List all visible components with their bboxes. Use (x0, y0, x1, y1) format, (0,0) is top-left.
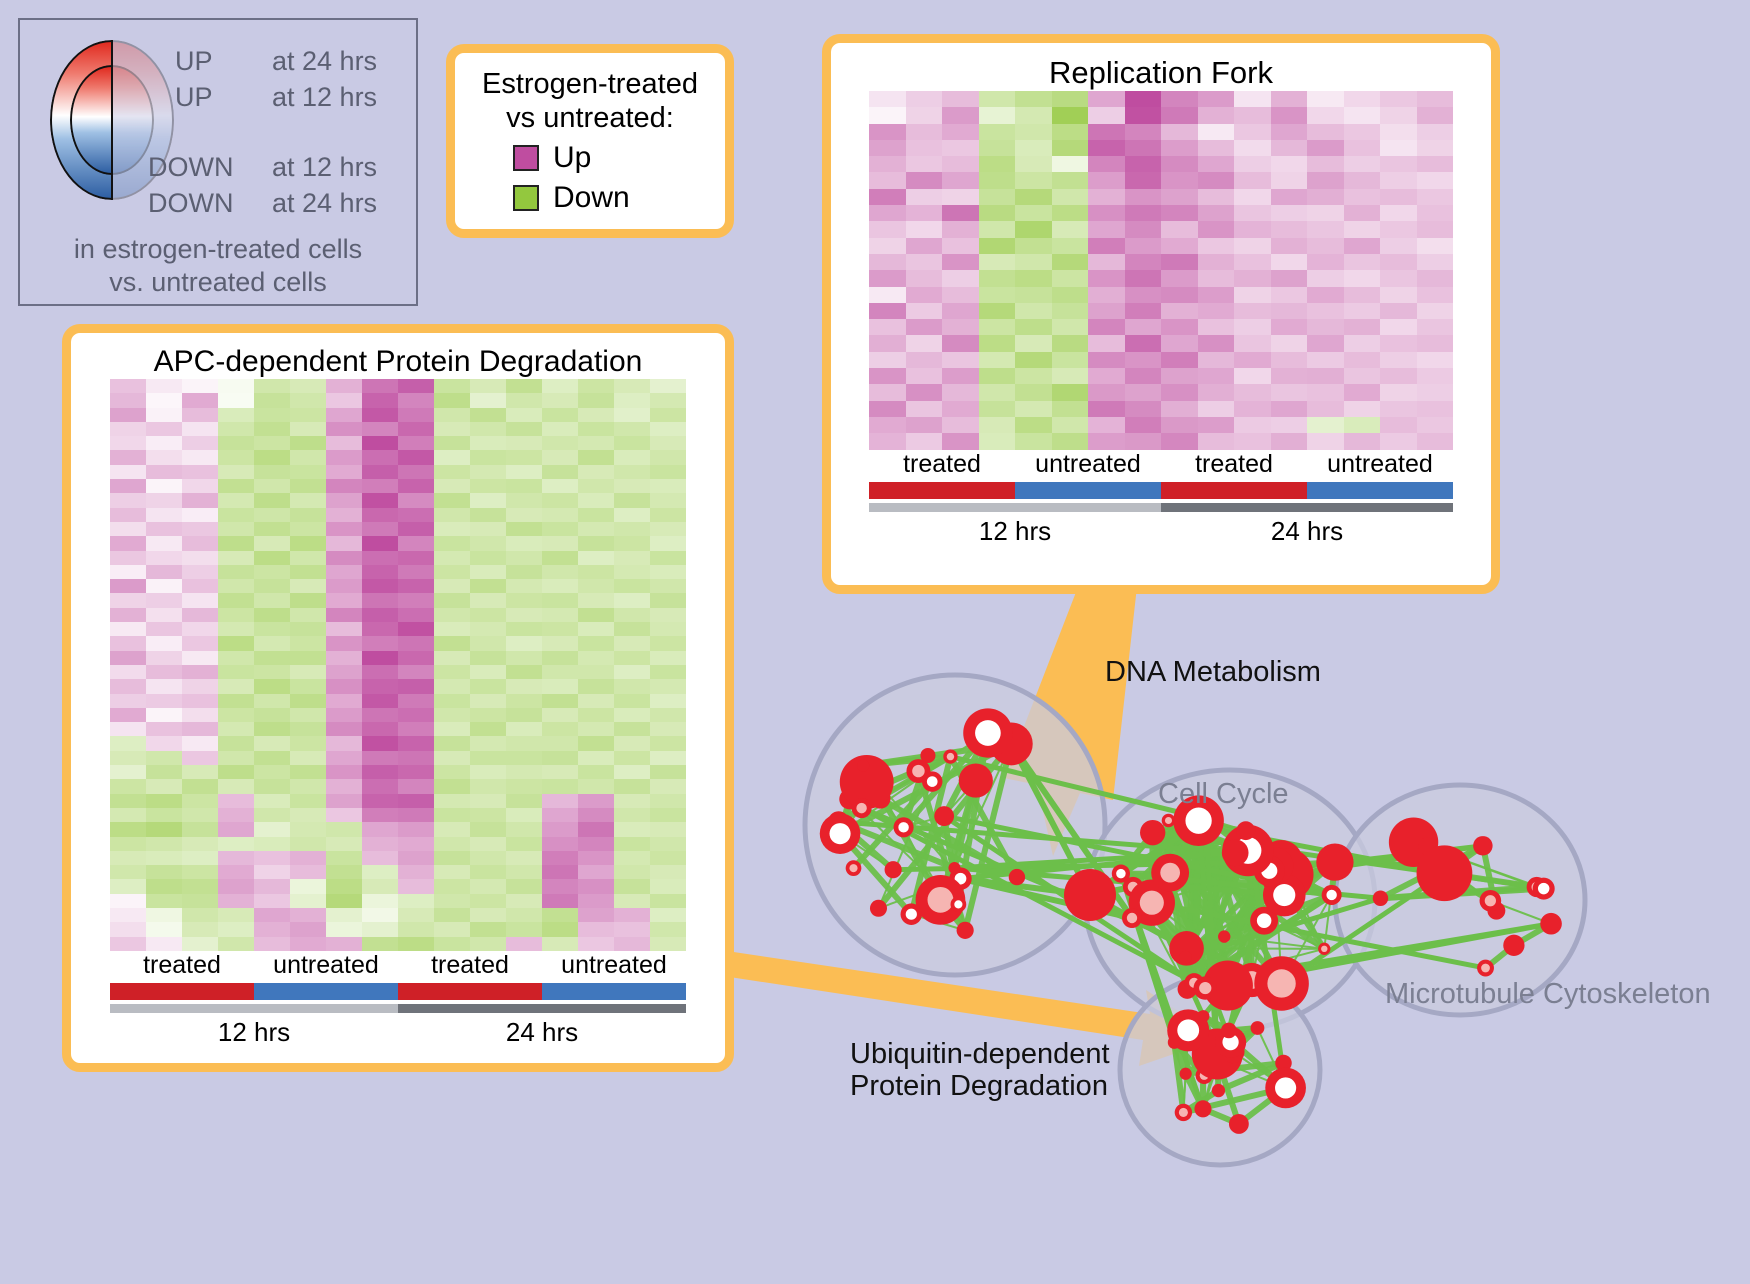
heatmap-cell (1125, 189, 1162, 205)
heatmap-cell (146, 551, 182, 565)
heatmap-cell (290, 408, 326, 422)
heatmap-cell (290, 808, 326, 822)
heatmap-cell (979, 433, 1016, 449)
heatmap-cell (1088, 352, 1125, 368)
heatmap-cell (290, 822, 326, 836)
heatmap-cell (506, 522, 542, 536)
heatmap-cell (290, 436, 326, 450)
heatmap-cell (942, 124, 979, 140)
heatmap-cell (578, 894, 614, 908)
timebar-12hrs (110, 1004, 398, 1013)
heatmap-cell (506, 794, 542, 808)
network-node[interactable] (1194, 1100, 1211, 1117)
heatmap-cell (614, 593, 650, 607)
heatmap-cell (398, 393, 434, 407)
heatmap-cell (182, 436, 218, 450)
network-node[interactable] (1212, 1084, 1225, 1097)
heatmap-cell (434, 837, 470, 851)
heatmap-cell (110, 565, 146, 579)
heatmap-cell (182, 865, 218, 879)
heatmap-cell (434, 379, 470, 393)
heatmap-cell (182, 450, 218, 464)
heatmap-cell (542, 536, 578, 550)
heatmap-cell (1234, 417, 1271, 433)
heatmap-cell (506, 865, 542, 879)
heatmap-cell (1344, 156, 1381, 172)
heatmap-cell (254, 751, 290, 765)
heatmap-cell (1198, 221, 1235, 237)
heatmap-cell (1417, 303, 1454, 319)
heatmap-cell (470, 436, 506, 450)
heatmap-cell (1015, 303, 1052, 319)
heatmap-cell (254, 679, 290, 693)
heatmap-cell (254, 922, 290, 936)
heatmap-cell (1417, 189, 1454, 205)
heatmap-cell (290, 779, 326, 793)
heatmap-cell (614, 822, 650, 836)
heatmap-cell (146, 865, 182, 879)
heatmap-cell (869, 254, 906, 270)
heatmap-cell (1125, 254, 1162, 270)
heatmap-cell (1380, 384, 1417, 400)
heatmap-cell (542, 794, 578, 808)
heatmap-cell (290, 551, 326, 565)
heatmap-cell (869, 156, 906, 172)
time-label-24: 24 hrs (1161, 516, 1453, 547)
heatmap-cell (182, 894, 218, 908)
heatmap-cell (1307, 384, 1344, 400)
heatmap-cell (1198, 433, 1235, 449)
heatmap-cell (942, 319, 979, 335)
network-node[interactable] (934, 806, 954, 826)
heatmap-cell (1198, 124, 1235, 140)
heatmap-cell (506, 751, 542, 765)
heatmap-cell (1234, 270, 1271, 286)
heatmap-cell (290, 937, 326, 951)
heatmap-cell (578, 508, 614, 522)
heatmap-cell (1052, 352, 1089, 368)
network-node[interactable] (1179, 951, 1192, 964)
scale-label-up-12: UP (175, 82, 213, 112)
heatmap-cell (290, 622, 326, 636)
heatmap-cell (578, 479, 614, 493)
heatmap-cell (398, 922, 434, 936)
heatmap-cell (398, 808, 434, 822)
heatmap-cell (1271, 352, 1308, 368)
heatmap-cell (326, 522, 362, 536)
heatmap-cell (290, 393, 326, 407)
heatmap-cell (1271, 303, 1308, 319)
network-node[interactable] (1503, 935, 1524, 956)
heatmap-cell (326, 808, 362, 822)
network-node[interactable] (1251, 1021, 1265, 1035)
heatmap-cell (326, 837, 362, 851)
heatmap-cell (578, 851, 614, 865)
heatmap-cell (362, 679, 398, 693)
heatmap-cell (869, 287, 906, 303)
heatmap-cell (182, 736, 218, 750)
heatmap-cell (869, 417, 906, 433)
heatmap-cell (906, 156, 943, 172)
cond-3: untreated (1307, 450, 1453, 479)
heatmap-cell (254, 665, 290, 679)
heatmap-cell (398, 879, 434, 893)
heatmap-cell (542, 694, 578, 708)
heatmap-cell (1015, 384, 1052, 400)
heatmap-cell (470, 522, 506, 536)
heatmap-cell (942, 205, 979, 221)
heatmap-cell (1380, 238, 1417, 254)
heatmap-cell (254, 894, 290, 908)
heatmap-cell (614, 665, 650, 679)
heatmap-cell (254, 422, 290, 436)
heatmap-cell (470, 393, 506, 407)
heatmap-cell (254, 694, 290, 708)
heatmap-cell (1088, 270, 1125, 286)
heatmap-cell (470, 665, 506, 679)
heatmap-cell (218, 408, 254, 422)
heatmap-cell (1125, 205, 1162, 221)
heatmap-cell (869, 433, 906, 449)
network-node[interactable] (1373, 891, 1388, 906)
network-node-core (1165, 817, 1172, 824)
heatmap-cell (979, 319, 1016, 335)
heatmap-cell (218, 736, 254, 750)
heatmap-cell (542, 722, 578, 736)
heatmap-cell (506, 465, 542, 479)
heatmap-cell (1161, 287, 1198, 303)
heatmap-cell (146, 593, 182, 607)
heatmap-cell (362, 808, 398, 822)
heatmap-cell (1198, 401, 1235, 417)
scale-note-line2: vs. untreated cells (20, 266, 416, 299)
heatmap-cell (1015, 352, 1052, 368)
heatmap-cell (326, 465, 362, 479)
heatmap-cell (182, 536, 218, 550)
heatmap-cell (1417, 221, 1454, 237)
network-node[interactable] (1180, 1068, 1192, 1080)
heatmap-cell (110, 879, 146, 893)
heatmap-cell (182, 808, 218, 822)
network-node[interactable] (1417, 845, 1473, 901)
heatmap-cell (218, 751, 254, 765)
heatmap-cell (614, 622, 650, 636)
heatmap-cell (146, 879, 182, 893)
heatmap-cell (1271, 189, 1308, 205)
heatmap-cell (362, 551, 398, 565)
heatmap-cell (542, 579, 578, 593)
heatmap-cell (1198, 335, 1235, 351)
heatmap-cell (434, 922, 470, 936)
heatmap-cell (218, 465, 254, 479)
heatmap-cell (1161, 238, 1198, 254)
heatmap-cell (470, 622, 506, 636)
heatmap-cell (614, 922, 650, 936)
heatmap-cell (434, 722, 470, 736)
network-node[interactable] (885, 861, 902, 878)
heatmap-cell (979, 238, 1016, 254)
heatmap-cell (578, 622, 614, 636)
heatmap-cell (326, 937, 362, 951)
network-node-core (1185, 808, 1211, 834)
heatmap-cell (1015, 221, 1052, 237)
heatmap-cell (290, 508, 326, 522)
cond-1: untreated (1015, 450, 1161, 479)
heatmap-cell (398, 665, 434, 679)
network-node[interactable] (870, 900, 887, 917)
heatmap-cell (542, 522, 578, 536)
heatmap-cell (218, 937, 254, 951)
network-node-core (975, 720, 1001, 746)
heatmap-cell (146, 851, 182, 865)
heatmap-cell (110, 393, 146, 407)
network-node-core (849, 864, 857, 872)
heatmap-cell (1088, 368, 1125, 384)
heatmap-cell (434, 894, 470, 908)
network-node-core (954, 900, 962, 908)
heatmap-cell (506, 708, 542, 722)
heatmap-cell (110, 894, 146, 908)
heatmap-cell (470, 822, 506, 836)
heatmap-cell (506, 922, 542, 936)
heatmap-cell (110, 579, 146, 593)
heatmap-cell (254, 879, 290, 893)
heatmap-cell (650, 865, 686, 879)
heatmap-cell (614, 722, 650, 736)
network-node[interactable] (920, 748, 935, 763)
heatmap-cell (470, 379, 506, 393)
heatmap-cell (1161, 107, 1198, 123)
heatmap-cell (326, 679, 362, 693)
heatmap-cell (578, 436, 614, 450)
network-node[interactable] (1221, 1023, 1237, 1039)
network-node[interactable] (1316, 843, 1353, 880)
heatmap-cell (542, 422, 578, 436)
network-node[interactable] (1540, 913, 1562, 935)
heatmap-cell (182, 379, 218, 393)
heatmap-cell (218, 837, 254, 851)
heatmap-cell (906, 335, 943, 351)
heatmap-cell (1015, 140, 1052, 156)
heatmap-cell (290, 722, 326, 736)
heatmap-cell (614, 551, 650, 565)
heatmap-cell (614, 408, 650, 422)
heatmap-cell (1271, 417, 1308, 433)
heatmap-cell (434, 579, 470, 593)
heatmap-cell (218, 593, 254, 607)
heatmap-cell (146, 522, 182, 536)
network-node[interactable] (1140, 820, 1165, 845)
heatmap-cell (1088, 140, 1125, 156)
heatmap-cell (1052, 319, 1089, 335)
heatmap-cell (1088, 156, 1125, 172)
heatmap-cell (182, 694, 218, 708)
heatmap-cell (506, 679, 542, 693)
heatmap-cell (578, 636, 614, 650)
heatmap-cell (470, 508, 506, 522)
network-node-core (829, 823, 850, 844)
network-node[interactable] (857, 759, 869, 771)
heatmap-cell (1198, 172, 1235, 188)
heatmap-cell (218, 708, 254, 722)
heatmap-cell (506, 408, 542, 422)
heatmap-cell (398, 722, 434, 736)
heatmap-cell (1344, 303, 1381, 319)
heatmap-cell (470, 894, 506, 908)
heatmap-cell (1198, 384, 1235, 400)
heatmap-cell (254, 593, 290, 607)
heatmap-cell (146, 536, 182, 550)
heatmap-cell (290, 708, 326, 722)
heatmap-cell (218, 922, 254, 936)
heatmap-cell (218, 450, 254, 464)
heatmap-cell (578, 808, 614, 822)
scale-time-down-24: at 24 hrs (272, 188, 377, 218)
heatmap-cell (1417, 319, 1454, 335)
heatmap-cell (1015, 189, 1052, 205)
heatmap-cell (362, 408, 398, 422)
heatmap-cell (218, 379, 254, 393)
heatmap-cell (110, 937, 146, 951)
heatmap-cell (614, 765, 650, 779)
scale-label-up-24: UP (175, 46, 213, 76)
heatmap-cell (470, 465, 506, 479)
heatmap-cell (869, 140, 906, 156)
heatmap-cell (218, 536, 254, 550)
heatmap-cell (869, 335, 906, 351)
bar-untreated-12 (254, 983, 398, 1000)
heatmap-cell (146, 450, 182, 464)
heatmap-cell (1307, 319, 1344, 335)
heatmap-cell (506, 450, 542, 464)
heatmap-cell (434, 765, 470, 779)
heatmap-cell (218, 765, 254, 779)
heatmap-cell (542, 779, 578, 793)
heatmap-cell (1052, 238, 1089, 254)
heatmap-cell (398, 622, 434, 636)
network-node-core (1273, 884, 1295, 906)
network-node[interactable] (1222, 839, 1249, 866)
heatmap-cell (434, 651, 470, 665)
heatmap-cell (1015, 433, 1052, 449)
heatmap-cell (326, 879, 362, 893)
bar-untreated-24 (1307, 482, 1453, 499)
heatmap-cell (218, 679, 254, 693)
heatmap-cell (362, 565, 398, 579)
heatmap-cell (362, 865, 398, 879)
heatmap-cell (362, 536, 398, 550)
network-node[interactable] (1236, 821, 1255, 840)
heatmap-cell (146, 579, 182, 593)
network-node[interactable] (948, 862, 960, 874)
heatmap-cell (614, 736, 650, 750)
time-label-12: 12 hrs (869, 516, 1161, 547)
heatmap-cell (434, 593, 470, 607)
heatmap-cell (1015, 156, 1052, 172)
heatmap-cell (1380, 287, 1417, 303)
heatmap-cell (650, 937, 686, 951)
heatmap-cell (218, 422, 254, 436)
heatmap-cell (1271, 140, 1308, 156)
network-node[interactable] (1229, 1114, 1249, 1134)
network-node-core (947, 753, 954, 760)
heatmap-cell (1161, 205, 1198, 221)
heatmap-cell (1307, 221, 1344, 237)
heatmap-cell (1052, 303, 1089, 319)
heatmap-cell (434, 636, 470, 650)
heatmap-cell (290, 694, 326, 708)
heatmap-cell (326, 608, 362, 622)
heatmap-cell (110, 593, 146, 607)
heatmap-cell (362, 779, 398, 793)
heatmap-cell (1417, 172, 1454, 188)
heatmap-cell (542, 436, 578, 450)
heatmap-cell (614, 636, 650, 650)
network-node[interactable] (1064, 869, 1116, 921)
heatmap-cell (979, 189, 1016, 205)
heatmap-cell (542, 593, 578, 607)
heatmap-cell (1380, 368, 1417, 384)
network-node[interactable] (957, 922, 974, 939)
heatmap-cell (1125, 401, 1162, 417)
heatmap-cell (1088, 189, 1125, 205)
network-node[interactable] (1473, 836, 1492, 855)
heatmap-cell (542, 879, 578, 893)
heatmap-cell (650, 679, 686, 693)
heatmap-cell (506, 608, 542, 622)
scale-time-down-12: at 12 hrs (272, 152, 377, 182)
heatmap-cell (398, 436, 434, 450)
heatmap-cell (254, 708, 290, 722)
network-node[interactable] (959, 764, 993, 798)
heatmap-cell (470, 751, 506, 765)
heatmap-cell (434, 736, 470, 750)
heatmap-cell (942, 156, 979, 172)
heatmap-cell (578, 608, 614, 622)
heatmap-cell (326, 894, 362, 908)
heatmap-cell (1015, 205, 1052, 221)
heatmap-cell (110, 865, 146, 879)
heatmap-cell (506, 422, 542, 436)
heatmap-cell (470, 794, 506, 808)
heatmap-cell (542, 393, 578, 407)
heatmap-cell (542, 937, 578, 951)
heatmap-cell (1088, 124, 1125, 140)
heatmap-cell (218, 636, 254, 650)
heatmap-cell (218, 794, 254, 808)
heatmap-cell (1161, 433, 1198, 449)
bar-untreated-24 (542, 983, 686, 1000)
scale-note-line1: in estrogen-treated cells (20, 233, 416, 266)
timebar-24hrs (398, 1004, 686, 1013)
heatmap-cell (1015, 172, 1052, 188)
network-node[interactable] (1009, 869, 1025, 885)
heatmap-cell (614, 865, 650, 879)
heatmap-cell (218, 651, 254, 665)
heatmap-cell (218, 579, 254, 593)
cond-2: treated (398, 951, 542, 980)
heatmap-cell (326, 622, 362, 636)
heatmap-cell (326, 708, 362, 722)
heatmap-cell (362, 393, 398, 407)
network-node[interactable] (1218, 930, 1230, 942)
heatmap-cell (470, 565, 506, 579)
heatmap-cell (578, 651, 614, 665)
heatmap-cell (1234, 172, 1271, 188)
heatmap-cell (146, 622, 182, 636)
heatmap-cell (362, 851, 398, 865)
heatmap-cell (1380, 303, 1417, 319)
